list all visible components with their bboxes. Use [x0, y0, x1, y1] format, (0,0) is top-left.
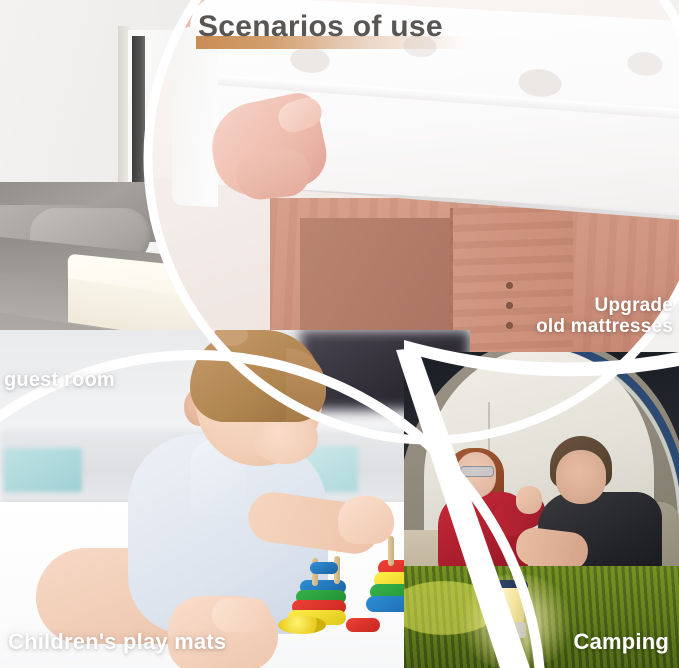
- mattress-corner: [172, 25, 218, 207]
- camping-photo: [404, 352, 679, 668]
- toy-ring-blue-loose: [310, 562, 338, 574]
- scenarios-of-use-graphic: Scenarios of use guest room Upgrade old …: [0, 0, 679, 668]
- page-title-block: Scenarios of use: [198, 10, 443, 44]
- bed-base-screw: [506, 302, 513, 309]
- lantern-base: [496, 622, 526, 638]
- page-title: Scenarios of use: [198, 10, 443, 44]
- label-upgrade-old-mattresses: Upgrade old mattresses: [536, 295, 673, 338]
- bed-base-screw: [506, 322, 513, 329]
- woman-glasses: [460, 466, 494, 477]
- lower-hand-fingers: [234, 146, 313, 201]
- toddler-toes: [212, 598, 270, 632]
- bed-base-screw: [506, 282, 513, 289]
- label-guest-room: guest room: [4, 369, 115, 391]
- teal-panel: [4, 448, 82, 492]
- woman-hand: [516, 486, 542, 514]
- label-camping: Camping: [573, 630, 669, 655]
- panel-camping: [404, 352, 679, 668]
- toy-ring-yellow-flat: [278, 616, 326, 634]
- toy-peg: [388, 536, 394, 566]
- label-childrens-play-mats: Children's play mats: [8, 630, 226, 655]
- man-face: [556, 450, 606, 504]
- toy-ring-red-loose: [346, 618, 380, 632]
- toddler-hand: [338, 496, 394, 544]
- lantern-body: [498, 588, 524, 624]
